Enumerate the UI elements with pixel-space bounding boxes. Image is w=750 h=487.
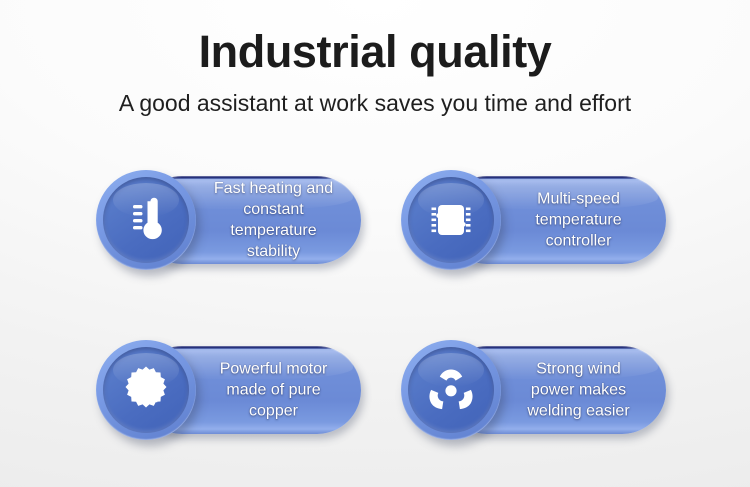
badge-face <box>103 347 189 433</box>
feature-icon-badge <box>401 170 501 270</box>
fan-radiation-icon <box>425 364 477 416</box>
microchip-icon <box>425 194 477 246</box>
gear-icon <box>120 364 172 416</box>
badge-face <box>408 177 494 263</box>
feature-label: Fast heating and constant temperature st… <box>200 178 347 262</box>
feature-card-grid: Fast heating and constant temperature st… <box>0 170 750 470</box>
feature-card[interactable]: Multi-speed temperature controller <box>401 170 666 270</box>
feature-icon-badge <box>401 340 501 440</box>
feature-icon-badge <box>96 340 196 440</box>
header: Industrial quality A good assistant at w… <box>0 0 750 117</box>
feature-label: Strong wind power makes welding easier <box>505 359 652 422</box>
thermometer-icon <box>120 194 172 246</box>
feature-icon-badge <box>96 170 196 270</box>
badge-face <box>408 347 494 433</box>
feature-label: Powerful motor made of pure copper <box>200 359 347 422</box>
feature-card[interactable]: Strong wind power makes welding easier <box>401 340 666 440</box>
badge-face <box>103 177 189 263</box>
page-subtitle: A good assistant at work saves you time … <box>0 78 750 117</box>
page-title: Industrial quality <box>0 0 750 78</box>
feature-card[interactable]: Fast heating and constant temperature st… <box>96 170 361 270</box>
feature-card[interactable]: Powerful motor made of pure copper <box>96 340 361 440</box>
promo-banner: Industrial quality A good assistant at w… <box>0 0 750 487</box>
feature-label: Multi-speed temperature controller <box>505 189 652 252</box>
